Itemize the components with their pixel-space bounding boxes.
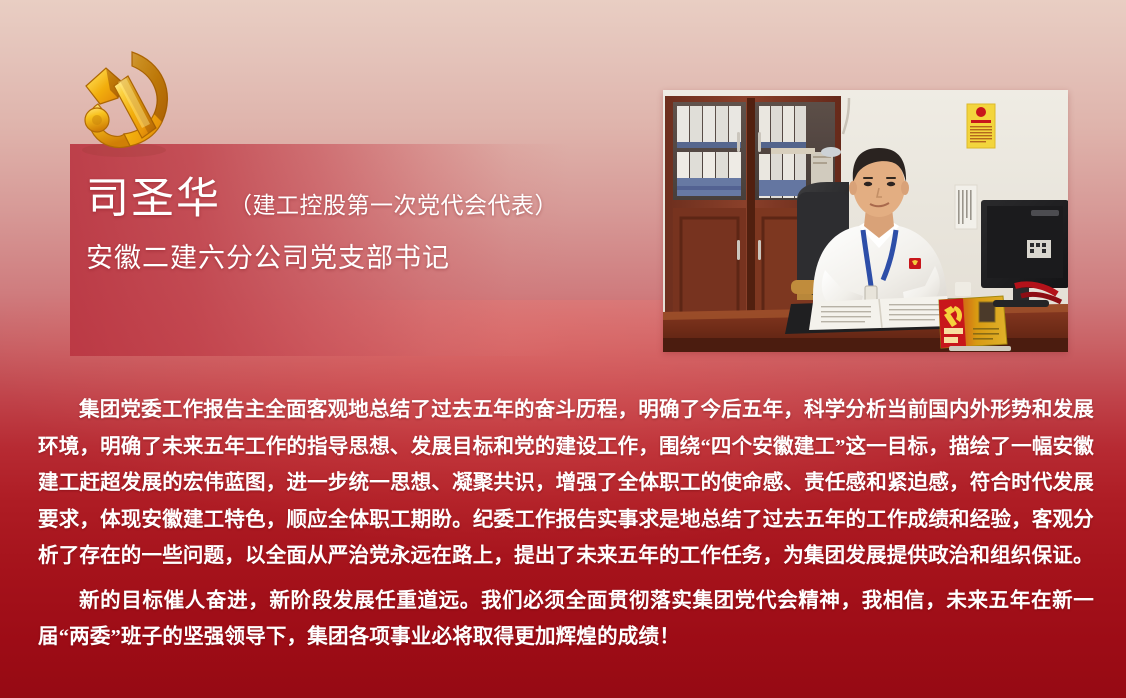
poster-canvas: 司圣华 （建工控股第一次党代会代表） 安徽二建六分公司党支部书记 bbox=[0, 0, 1126, 698]
body-paragraph-1: 集团党委工作报告主全面客观地总结了过去五年的奋斗历程，明确了今后五年，科学分析当… bbox=[38, 392, 1094, 575]
person-photo bbox=[663, 90, 1068, 352]
person-name: 司圣华 bbox=[86, 175, 221, 224]
body-paragraph-2: 新的目标催人奋进，新阶段发展任重道远。我们必须全面贯彻落实集团党代会精神，我相信… bbox=[38, 583, 1094, 656]
wall-poster bbox=[967, 104, 995, 148]
cpc-hammer-sickle-emblem bbox=[62, 42, 184, 160]
body-text: 集团党委工作报告主全面客观地总结了过去五年的奋斗历程，明确了今后五年，科学分析当… bbox=[38, 392, 1094, 658]
person-name-suffix: （建工控股第一次党代会代表） bbox=[229, 186, 558, 220]
